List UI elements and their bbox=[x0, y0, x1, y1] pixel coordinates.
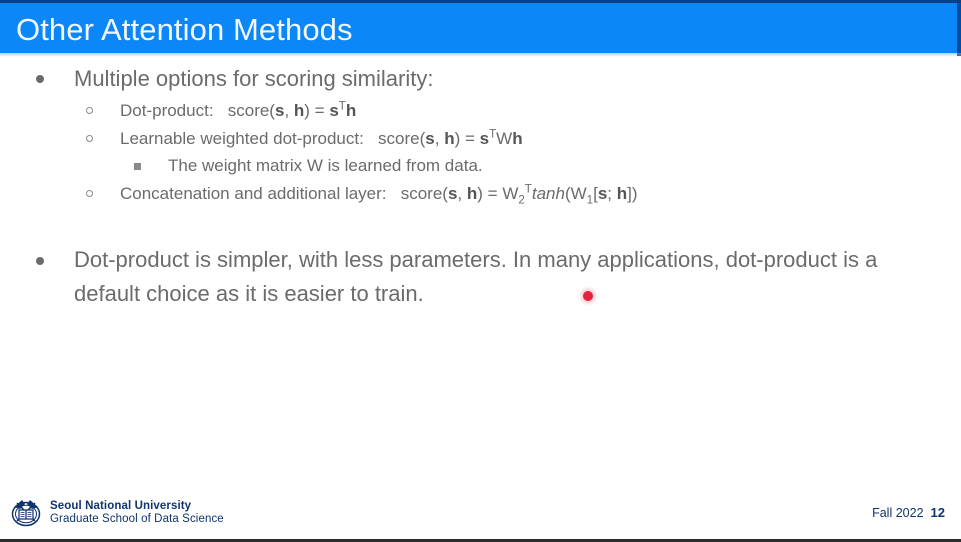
snu-emblem-icon bbox=[10, 497, 42, 529]
vector-h: h bbox=[467, 184, 477, 203]
bullet-item-dot-product-summary: Dot-product is simpler, with less parame… bbox=[0, 243, 961, 311]
institution-name-block: Seoul National University Graduate Schoo… bbox=[50, 500, 224, 526]
vector-s-transposed: s bbox=[480, 129, 489, 148]
university-name: Seoul National University bbox=[50, 500, 224, 513]
slide-canvas: Other Attention Methods Multiple options… bbox=[0, 0, 961, 542]
function-tanh: tanh bbox=[532, 184, 565, 203]
title-bar-right-edge bbox=[957, 3, 961, 56]
vector-s-2: s bbox=[598, 184, 607, 203]
institution-logo: Seoul National University Graduate Schoo… bbox=[10, 497, 224, 529]
vector-h: h bbox=[294, 101, 304, 120]
superscript-transpose: T bbox=[339, 100, 346, 112]
matrix-w: W bbox=[496, 129, 512, 148]
bullet-circle-icon bbox=[86, 107, 93, 114]
bullet-list-level-1-secondary: Dot-product is simpler, with less parame… bbox=[0, 243, 961, 311]
vector-s-transposed: s bbox=[329, 101, 338, 120]
matrix-w1: W bbox=[571, 184, 587, 203]
formula-dot-product: score(s, h) = sTh bbox=[218, 101, 356, 120]
bullet-item-scoring-options: Multiple options for scoring similarity: bbox=[0, 62, 961, 95]
slide-body: Multiple options for scoring similarity:… bbox=[0, 62, 961, 207]
bullet-label: Learnable weighted dot-product: bbox=[120, 129, 364, 148]
bullet-text: The weight matrix W is learned from data… bbox=[168, 156, 483, 175]
bullet-list-level-1: Multiple options for scoring similarity:… bbox=[0, 62, 961, 207]
bullet-text: Dot-product is simpler, with less parame… bbox=[74, 247, 877, 306]
footer-meta: Fall 202212 bbox=[872, 505, 945, 520]
bullet-disc-icon bbox=[36, 257, 44, 265]
vector-h-2: h bbox=[617, 184, 627, 203]
formula-learnable-weighted: score(s, h) = sTWh bbox=[369, 129, 523, 148]
bullet-item-dot-product: Dot-product: score(s, h) = sTh bbox=[0, 97, 961, 124]
vector-h-2: h bbox=[346, 101, 356, 120]
slide-title-bar: Other Attention Methods bbox=[0, 0, 961, 53]
laser-pointer-dot bbox=[583, 291, 593, 301]
vector-h-2: h bbox=[512, 129, 522, 148]
bullet-circle-icon bbox=[86, 135, 93, 142]
bullet-text: Multiple options for scoring similarity: bbox=[74, 66, 433, 91]
vector-h: h bbox=[444, 129, 454, 148]
bullet-item-concatenation: Concatenation and additional layer: scor… bbox=[0, 180, 961, 207]
term-label: Fall 2022 bbox=[872, 506, 923, 520]
vector-s: s bbox=[425, 129, 434, 148]
slide-footer: Seoul National University Graduate Schoo… bbox=[0, 493, 961, 539]
bullet-circle-icon bbox=[86, 190, 93, 197]
vector-s: s bbox=[448, 184, 457, 203]
matrix-w2: W bbox=[502, 184, 518, 203]
bullet-item-learnable-weighted: Learnable weighted dot-product: score(s,… bbox=[0, 125, 961, 152]
page-number: 12 bbox=[931, 505, 945, 520]
bullet-label: Dot-product: bbox=[120, 101, 214, 120]
formula-concatenation: score(s, h) = W2Ttanh(W1[s; h]) bbox=[391, 184, 637, 203]
bullet-label: Concatenation and additional layer: bbox=[120, 184, 387, 203]
bullet-square-icon bbox=[134, 163, 141, 170]
slide-body-secondary: Dot-product is simpler, with less parame… bbox=[0, 243, 961, 313]
superscript-transpose: T bbox=[525, 183, 532, 195]
subscript-2: 2 bbox=[518, 194, 524, 206]
bullet-item-weight-matrix-note: The weight matrix W is learned from data… bbox=[0, 152, 961, 179]
school-name: Graduate School of Data Science bbox=[50, 513, 224, 526]
page-title: Other Attention Methods bbox=[16, 11, 353, 49]
bullet-disc-icon bbox=[36, 75, 44, 83]
